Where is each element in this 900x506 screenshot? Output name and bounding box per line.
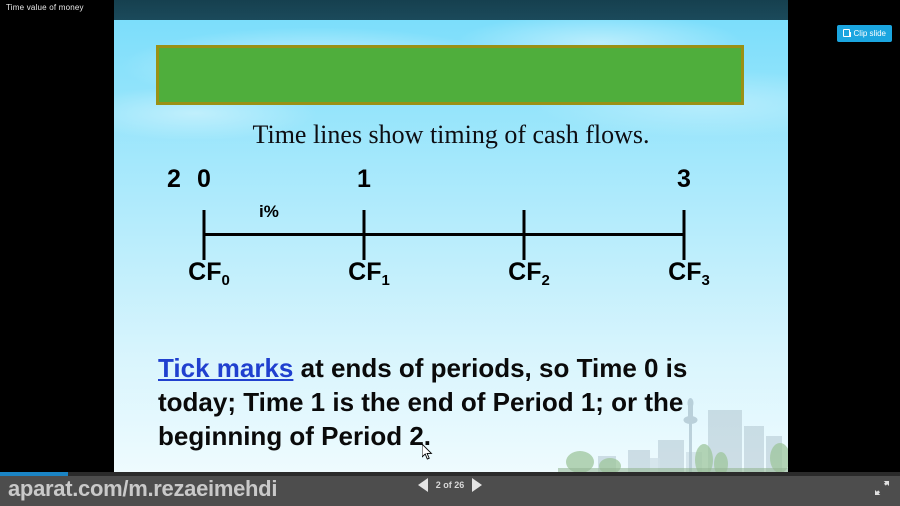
slide-subtitle: Time lines show timing of cash flows. — [114, 120, 788, 150]
timeline-cashflow-1: CF1 — [348, 258, 390, 287]
timeline-axis — [204, 233, 684, 236]
timeline-rate-label: i% — [259, 202, 279, 222]
previous-slide-button[interactable] — [418, 478, 428, 492]
slide-top-band — [114, 0, 788, 20]
player-title: Time value of money — [6, 3, 84, 12]
timeline-number-2: 2 — [167, 165, 181, 194]
slide-body-text: Tick marks at ends of periods, so Time 0… — [158, 352, 758, 453]
timeline-number-0: 0 — [197, 165, 211, 194]
next-slide-button[interactable] — [472, 478, 482, 492]
timeline-tick-3 — [683, 210, 686, 260]
timeline-tick-2 — [523, 210, 526, 260]
timeline-cashflow-3: CF3 — [668, 258, 710, 287]
timeline-cashflow-0: CF0 — [188, 258, 230, 287]
fullscreen-button[interactable] — [874, 480, 890, 496]
timeline-tick-0 — [203, 210, 206, 260]
timeline-number-1: 1 — [357, 165, 371, 194]
slide-title-box — [156, 45, 744, 105]
page-indicator-label: 2 of 26 — [436, 480, 465, 490]
timeline-number-3: 3 — [677, 165, 691, 194]
timeline-diagram: 0 1 2 3 i% CF0 CF1 CF2 CF3 — [174, 165, 714, 290]
page-navigation: 2 of 26 — [0, 478, 900, 492]
slide-player: Time value of money Clip slide Time line… — [0, 0, 900, 506]
clip-icon — [843, 29, 851, 38]
timeline-cashflow-2: CF2 — [508, 258, 550, 287]
slide-body-highlight: Tick marks — [158, 353, 293, 383]
clip-slide-button[interactable]: Clip slide — [837, 25, 892, 42]
slide-canvas[interactable]: Time lines show timing of cash flows. 0 … — [114, 0, 788, 472]
player-control-bar: aparat.com/m.rezaeimehdi 2 of 26 — [0, 472, 900, 506]
clip-slide-label: Clip slide — [854, 29, 886, 38]
timeline-tick-1 — [363, 210, 366, 260]
